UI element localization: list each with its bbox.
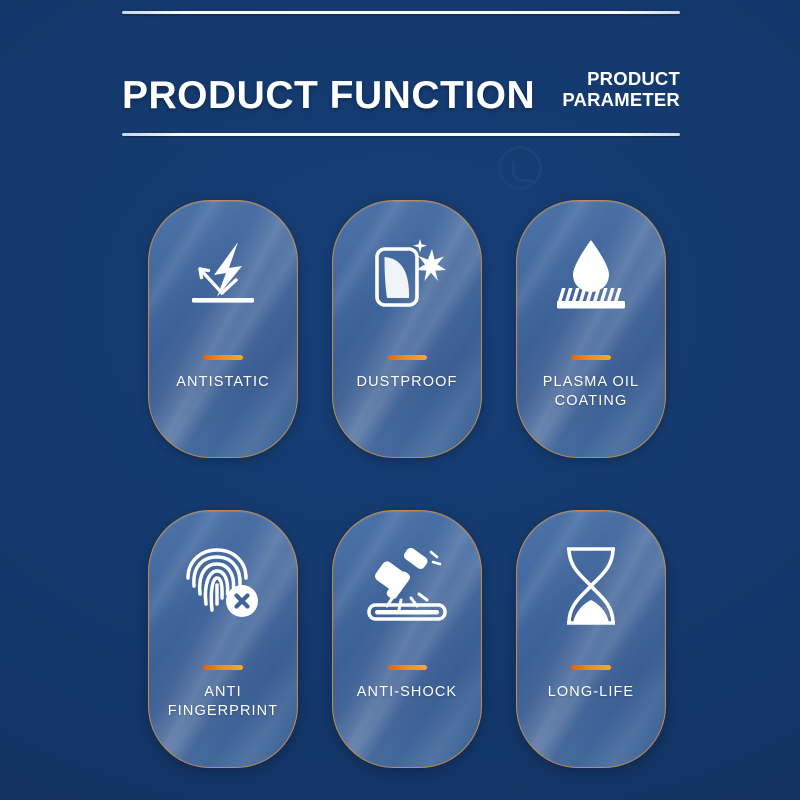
feature-label: ANTISTATIC <box>170 373 275 392</box>
card-divider <box>571 355 611 360</box>
feature-label: PLASMA OIL COATING <box>537 373 645 412</box>
card-divider <box>387 665 427 670</box>
feature-label: ANTI FINGERPRINT <box>162 683 284 722</box>
page-subtitle: PRODUCT PARAMETER <box>562 69 680 115</box>
header-rule-bottom <box>122 133 680 136</box>
long-life-hourglass-icon <box>553 511 629 661</box>
page-subtitle-line-2: PARAMETER <box>562 90 680 111</box>
card-divider <box>203 355 243 360</box>
header: PRODUCT FUNCTION PRODUCT PARAMETER <box>122 0 680 136</box>
feature-label: DUSTPROOF <box>351 373 464 392</box>
header-row: PRODUCT FUNCTION PRODUCT PARAMETER <box>122 14 680 133</box>
card-divider <box>203 665 243 670</box>
card-divider <box>571 665 611 670</box>
feature-card-dustproof[interactable]: DUSTPROOF <box>332 200 482 458</box>
card-divider <box>387 355 427 360</box>
feature-card-long-life[interactable]: LONG-LIFE <box>516 510 666 768</box>
antistatic-lightning-icon <box>181 201 265 351</box>
feature-card-anti-shock[interactable]: ANTI-SHOCK <box>332 510 482 768</box>
feature-card-plasma-oil-coating[interactable]: PLASMA OIL COATING <box>516 200 666 458</box>
page-subtitle-line-1: PRODUCT <box>562 69 680 90</box>
plasma-oil-droplet-icon <box>548 201 634 351</box>
anti-fingerprint-icon <box>181 511 265 661</box>
page-title: PRODUCT FUNCTION <box>122 76 535 115</box>
brand-watermark-icon <box>498 146 542 190</box>
feature-card-anti-fingerprint[interactable]: ANTI FINGERPRINT <box>148 510 298 768</box>
feature-card-antistatic[interactable]: ANTISTATIC <box>148 200 298 458</box>
anti-shock-hammer-icon <box>363 511 451 661</box>
product-function-infographic: PRODUCT FUNCTION PRODUCT PARAMETER AN <box>0 0 800 800</box>
feature-card-grid: ANTISTATIC DUSTPROOF <box>148 200 666 768</box>
feature-label: ANTI-SHOCK <box>351 683 463 702</box>
dustproof-screen-sparkle-icon <box>365 201 449 351</box>
feature-label: LONG-LIFE <box>542 683 640 702</box>
